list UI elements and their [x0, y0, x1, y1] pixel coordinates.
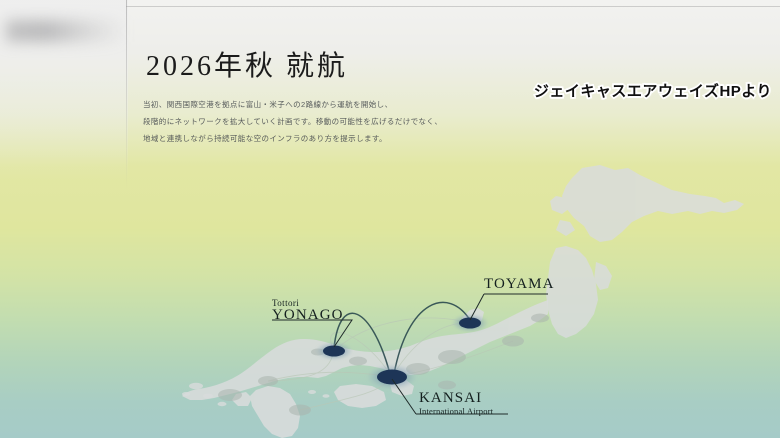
landmass-honshu — [182, 300, 548, 400]
map-svg — [0, 0, 780, 438]
landmass-hokkaido — [550, 165, 744, 242]
slide-description: 当初、関西国際空港を拠点に富山・米子への2路線から運航を開始し、 段階的にネット… — [143, 96, 443, 147]
airport-marker-kansai[interactable] — [366, 364, 418, 390]
airport-marker-toyama[interactable] — [451, 314, 489, 333]
map-label-yonago: Tottori YONAGO — [272, 298, 344, 324]
map-label-toyama-city: TOYAMA — [484, 276, 555, 293]
source-credit: ジェイキャスエアウェイズHPより — [534, 80, 772, 101]
map-label-kansai-city: KANSAI — [419, 390, 493, 407]
airport-marker-yonago[interactable] — [315, 342, 353, 361]
map-label-kansai: KANSAI International Airport — [419, 390, 493, 416]
page-title: 2026年秋 就航 — [146, 44, 348, 84]
map-label-yonago-city: YONAGO — [272, 307, 344, 324]
map-label-toyama: TOYAMA — [484, 276, 555, 293]
map-label-kansai-subtitle: International Airport — [419, 406, 493, 416]
japan-route-map — [0, 0, 780, 438]
description-line-1: 当初、関西国際空港を拠点に富山・米子への2路線から運航を開始し、 — [143, 96, 443, 113]
landmass-tohoku — [546, 246, 612, 338]
slide-canvas: 2026年秋 就航 当初、関西国際空港を拠点に富山・米子への2路線から運航を開始… — [0, 0, 780, 438]
description-line-2: 段階的にネットワークを拡大していく計画です。移動の可能性を広げるだけでなく、 — [143, 113, 443, 130]
description-line-3: 地域と連携しながら持続可能な空のインフラのあり方を提示します。 — [143, 130, 443, 147]
